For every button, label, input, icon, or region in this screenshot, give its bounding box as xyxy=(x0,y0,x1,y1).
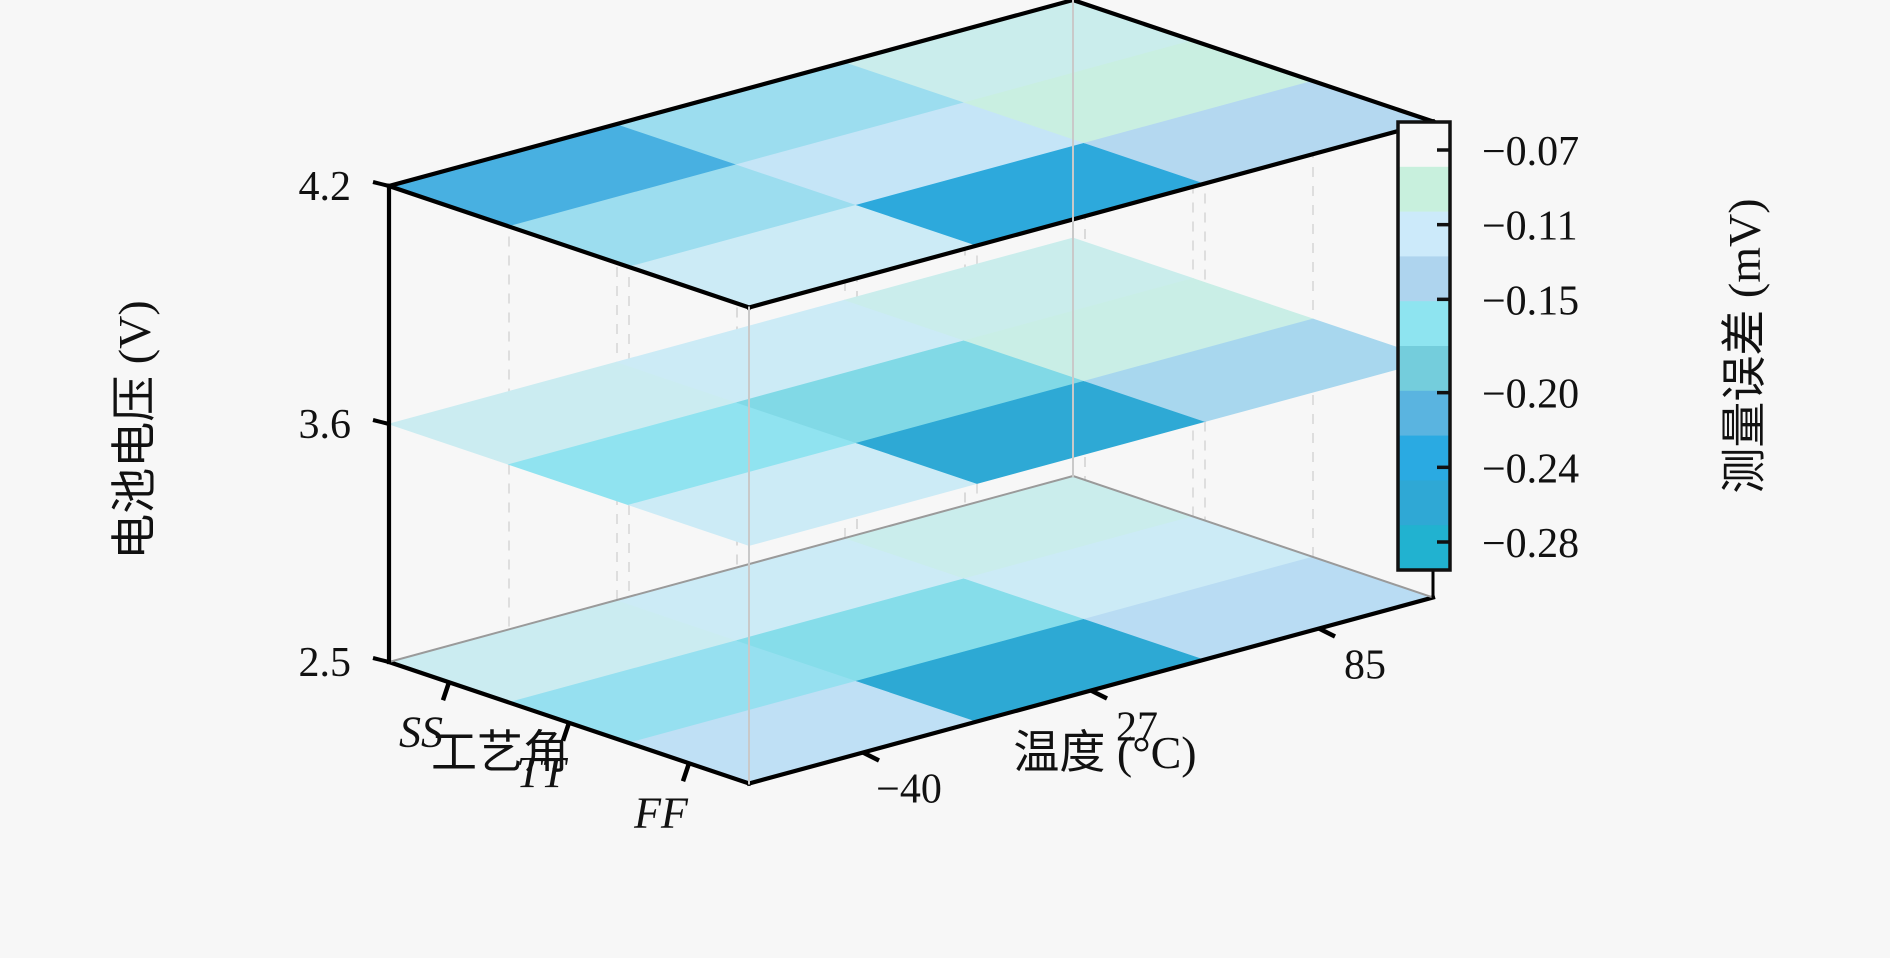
colorbar-band xyxy=(1398,212,1450,257)
colorbar-tick-024: −0.24 xyxy=(1482,446,1579,492)
colorbar-tick-020: −0.20 xyxy=(1482,372,1579,418)
x-tick-mark xyxy=(683,763,689,781)
z-tick-mark xyxy=(373,182,389,186)
y-axis-title: 温度 (°C) xyxy=(1013,727,1196,778)
colorbar-band xyxy=(1398,167,1450,212)
colorbar-band xyxy=(1398,122,1450,167)
z-tick-mark xyxy=(373,420,389,424)
z-tick-mark xyxy=(373,658,389,662)
colorbar-title: 测量误差 (mV) xyxy=(1719,198,1770,493)
colorbar-tick-007: −0.07 xyxy=(1482,129,1579,175)
colorbar: −0.07−0.11−0.15−0.20−0.24−0.28测量误差 (mV) xyxy=(1398,122,1770,571)
colorbar-tick-011: −0.11 xyxy=(1482,204,1578,250)
y-tick-85: 85 xyxy=(1344,643,1386,689)
colorbar-band xyxy=(1398,256,1450,301)
z-tick-2-5: 2.5 xyxy=(299,640,352,686)
colorbar-band xyxy=(1398,301,1450,346)
slices-layer xyxy=(389,0,1433,784)
x-axis-title: 工艺角 xyxy=(431,727,569,778)
3d-heatmap-figure: 4.23.62.5电池电压 (V)SSTTFF工艺角−402785温度 (°C)… xyxy=(0,0,1890,958)
colorbar-tick-028: −0.28 xyxy=(1482,521,1579,567)
y-tick-mark xyxy=(1091,691,1107,699)
x-tick-FF: FF xyxy=(633,788,689,837)
figure-canvas: 4.23.62.5电池电压 (V)SSTTFF工艺角−402785温度 (°C)… xyxy=(0,0,1890,958)
colorbar-band xyxy=(1398,346,1450,391)
z-tick-3-6: 3.6 xyxy=(299,402,352,448)
z-axis-title: 电池电压 (V) xyxy=(109,300,160,559)
x-tick-mark xyxy=(443,682,449,700)
y-tick-mark xyxy=(863,753,879,761)
colorbar-band xyxy=(1398,391,1450,436)
y-tick-neg40: −40 xyxy=(876,767,942,813)
slice-3-6 xyxy=(389,238,1433,546)
y-tick-mark xyxy=(1319,629,1335,637)
colorbar-band xyxy=(1398,436,1450,481)
z-tick-4-2: 4.2 xyxy=(299,164,352,210)
colorbar-tick-015: −0.15 xyxy=(1482,278,1579,324)
colorbar-band xyxy=(1398,525,1450,570)
colorbar-band xyxy=(1398,480,1450,525)
